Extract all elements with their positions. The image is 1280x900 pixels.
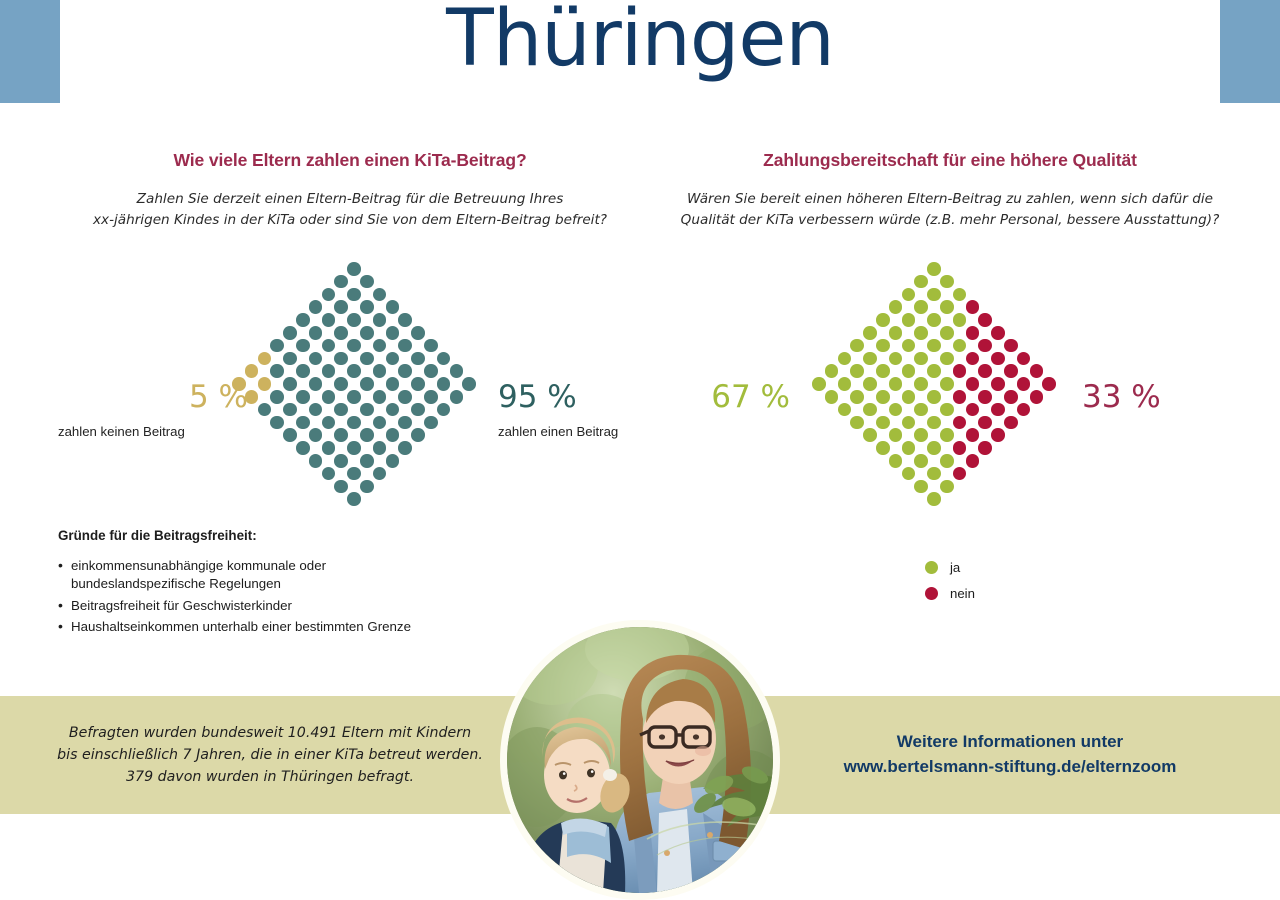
- waffle-dot: [334, 403, 348, 417]
- panel-right-subtitle-line2: Qualität der KiTa verbessern würde (z.B.…: [650, 210, 1250, 231]
- photo-illustration: [507, 627, 773, 893]
- stat-nein: 33 %: [1082, 382, 1222, 413]
- waffle-dot: [953, 390, 967, 404]
- waffle-dot: [398, 390, 412, 404]
- waffle-dot: [889, 403, 903, 417]
- waffle-dot: [966, 377, 980, 391]
- waffle-dot: [437, 352, 451, 366]
- waffle-dot: [1017, 403, 1031, 417]
- waffle-dot: [334, 454, 348, 468]
- waffle-dot: [437, 403, 451, 417]
- waffle-dot: [360, 428, 374, 442]
- waffle-dot: [966, 428, 980, 442]
- page-header: Thüringen: [0, 0, 1280, 104]
- waffle-dot: [902, 364, 916, 378]
- waffle-dot: [1017, 352, 1031, 366]
- waffle-dot: [411, 377, 425, 391]
- waffle-dot: [863, 428, 877, 442]
- waffle-dot: [850, 364, 864, 378]
- waffle-dot: [953, 339, 967, 353]
- panel-left-subtitle-line2: xx-jährigen Kindes in der KiTa oder sind…: [40, 210, 660, 231]
- waffle-dot: [334, 480, 348, 494]
- waffle-dot: [373, 416, 387, 430]
- waffle-dot: [876, 313, 890, 327]
- stat-zahlen-keinen-beitrag: 5 % zahlen keinen Beitrag: [58, 382, 248, 439]
- waffle-dot: [850, 339, 864, 353]
- waffle-dot: [309, 403, 323, 417]
- waffle-dot: [914, 454, 928, 468]
- waffle-dot: [283, 326, 297, 340]
- waffle-dot: [953, 416, 967, 430]
- stat-left-yes-caption: zahlen einen Beitrag: [498, 424, 698, 439]
- reason-item: Haushaltseinkommen unterhalb einer besti…: [58, 618, 418, 636]
- waffle-dot: [966, 326, 980, 340]
- waffle-dot: [1030, 364, 1044, 378]
- footer-note-line1: Befragten wurden bundesweit 10.491 Elter…: [40, 722, 500, 744]
- waffle-dot: [398, 416, 412, 430]
- waffle-dot: [991, 428, 1005, 442]
- waffle-dot: [309, 428, 323, 442]
- waffle-dot: [812, 377, 826, 391]
- waffle-dot: [953, 313, 967, 327]
- waffle-dot: [373, 339, 387, 353]
- waffle-chart-kita-beitrag: [232, 262, 472, 532]
- waffle-dot: [322, 339, 336, 353]
- waffle-dot: [978, 339, 992, 353]
- legend-swatch-ja: [925, 561, 938, 574]
- waffle-dot: [360, 454, 374, 468]
- waffle-dot: [398, 339, 412, 353]
- waffle-dot: [1017, 377, 1031, 391]
- waffle-dot: [322, 364, 336, 378]
- waffle-dot: [360, 275, 374, 289]
- waffle-dot: [914, 377, 928, 391]
- waffle-dot: [863, 403, 877, 417]
- waffle-dot: [322, 288, 336, 302]
- footer-more-info: Weitere Informationen unter www.bertelsm…: [790, 730, 1230, 779]
- panel-right-title: Zahlungsbereitschaft für eine höhere Qua…: [650, 150, 1250, 171]
- waffle-dot: [386, 326, 400, 340]
- waffle-dot: [889, 300, 903, 314]
- footer-cta-url[interactable]: www.bertelsmann-stiftung.de/elternzoom: [790, 755, 1230, 780]
- waffle-dot: [296, 313, 310, 327]
- waffle-dot: [373, 313, 387, 327]
- waffle-dot: [309, 377, 323, 391]
- waffle-chart-zahlungsbereitschaft: [812, 262, 1062, 532]
- footer-note-line2: bis einschließlich 7 Jahren, die in eine…: [40, 744, 500, 766]
- waffle-dot: [360, 480, 374, 494]
- waffle-dot: [1004, 339, 1018, 353]
- waffle-dot: [991, 326, 1005, 340]
- waffle-dot: [450, 364, 464, 378]
- waffle-dot: [953, 288, 967, 302]
- waffle-dot: [347, 364, 361, 378]
- panel-right-subtitle: Wären Sie bereit einen höheren Eltern-Be…: [650, 189, 1250, 230]
- waffle-dot: [411, 428, 425, 442]
- waffle-dot: [283, 428, 297, 442]
- stat-ja: 67 %: [660, 382, 790, 413]
- waffle-dot: [322, 416, 336, 430]
- waffle-dot: [902, 339, 916, 353]
- waffle-dot: [838, 352, 852, 366]
- waffle-dot: [296, 339, 310, 353]
- waffle-dot: [334, 352, 348, 366]
- waffle-dot: [1004, 416, 1018, 430]
- waffle-dot: [411, 326, 425, 340]
- waffle-dot: [283, 403, 297, 417]
- waffle-dot: [360, 377, 374, 391]
- waffle-dot: [270, 390, 284, 404]
- waffle-dot: [940, 454, 954, 468]
- waffle-dot: [258, 377, 272, 391]
- waffle-dot: [927, 262, 941, 276]
- waffle-dot: [927, 390, 941, 404]
- waffle-dot: [386, 352, 400, 366]
- photo-inner: [507, 627, 773, 893]
- waffle-dot: [914, 275, 928, 289]
- reasons-heading: Gründe für die Beitragsfreiheit:: [58, 528, 418, 543]
- waffle-dot: [978, 390, 992, 404]
- waffle-dot: [927, 288, 941, 302]
- waffle-dot: [373, 364, 387, 378]
- legend-swatch-nein: [925, 587, 938, 600]
- waffle-dot: [1004, 390, 1018, 404]
- waffle-dot: [876, 390, 890, 404]
- waffle-dot: [940, 300, 954, 314]
- waffle-dot: [902, 416, 916, 430]
- waffle-dot: [347, 467, 361, 481]
- waffle-dot: [914, 300, 928, 314]
- waffle-dot: [283, 352, 297, 366]
- waffle-dot: [927, 467, 941, 481]
- reason-item: einkommensunabhängige kommunale oder bun…: [58, 557, 418, 594]
- waffle-dot: [953, 364, 967, 378]
- waffle-dot: [940, 428, 954, 442]
- waffle-dot: [825, 364, 839, 378]
- waffle-dot: [914, 428, 928, 442]
- waffle-dot: [1030, 390, 1044, 404]
- waffle-dot: [902, 467, 916, 481]
- waffle-dot: [850, 390, 864, 404]
- waffle-dot: [398, 441, 412, 455]
- waffle-dot: [258, 352, 272, 366]
- waffle-dot: [889, 377, 903, 391]
- waffle-dot: [334, 377, 348, 391]
- waffle-dot: [991, 352, 1005, 366]
- waffle-dot: [386, 403, 400, 417]
- waffle-dot: [876, 339, 890, 353]
- panel-right-subtitle-line1: Wären Sie bereit einen höheren Eltern-Be…: [650, 189, 1250, 210]
- waffle-dot: [927, 313, 941, 327]
- waffle-dot: [360, 300, 374, 314]
- waffle-dot: [927, 492, 941, 506]
- waffle-dot: [966, 454, 980, 468]
- waffle-dot: [940, 377, 954, 391]
- waffle-dot: [309, 454, 323, 468]
- waffle-dot: [360, 403, 374, 417]
- waffle-dot: [373, 441, 387, 455]
- waffle-dot: [850, 416, 864, 430]
- panel-left-subtitle-line1: Zahlen Sie derzeit einen Eltern-Beitrag …: [40, 189, 660, 210]
- waffle-dot: [863, 326, 877, 340]
- waffle-dot: [1004, 364, 1018, 378]
- waffle-dot: [309, 326, 323, 340]
- waffle-dot: [902, 288, 916, 302]
- waffle-dot: [966, 300, 980, 314]
- waffle-dot: [386, 300, 400, 314]
- waffle-dot: [411, 352, 425, 366]
- waffle-dot: [838, 377, 852, 391]
- waffle-dot: [296, 441, 310, 455]
- waffle-dot: [889, 428, 903, 442]
- waffle-dot: [876, 364, 890, 378]
- waffle-dot: [322, 467, 336, 481]
- waffle-dot: [424, 416, 438, 430]
- waffle-dot: [245, 364, 259, 378]
- waffle-dot: [398, 313, 412, 327]
- stat-left-no-value: 5 %: [58, 382, 248, 413]
- waffle-dot: [966, 403, 980, 417]
- waffle-dot: [373, 467, 387, 481]
- waffle-dot: [966, 352, 980, 366]
- waffle-dot: [386, 454, 400, 468]
- waffle-dot: [902, 441, 916, 455]
- waffle-dot: [863, 377, 877, 391]
- waffle-dot: [462, 377, 476, 391]
- panel-kita-beitrag: Wie viele Eltern zahlen einen KiTa-Beitr…: [40, 150, 660, 230]
- panel-left-subtitle: Zahlen Sie derzeit einen Eltern-Beitrag …: [40, 189, 660, 230]
- legend-item: nein: [925, 586, 975, 601]
- waffle-dot: [889, 352, 903, 366]
- legend-item: ja: [925, 560, 975, 575]
- waffle-dot: [347, 441, 361, 455]
- footer-cta-line1: Weitere Informationen unter: [790, 730, 1230, 755]
- waffle-dot: [322, 390, 336, 404]
- waffle-dot: [927, 364, 941, 378]
- waffle-dot: [270, 416, 284, 430]
- waffle-dot: [953, 467, 967, 481]
- waffle-dot: [334, 300, 348, 314]
- waffle-dot: [296, 364, 310, 378]
- waffle-dot: [978, 416, 992, 430]
- waffle-dot: [902, 390, 916, 404]
- waffle-dot: [927, 339, 941, 353]
- waffle-dot: [386, 428, 400, 442]
- reasons-list: einkommensunabhängige kommunale oder bun…: [58, 557, 418, 636]
- waffle-dot: [347, 416, 361, 430]
- waffle-dot: [334, 275, 348, 289]
- waffle-dot: [940, 480, 954, 494]
- waffle-dot: [360, 352, 374, 366]
- waffle-dot: [437, 377, 451, 391]
- waffle-dot: [978, 441, 992, 455]
- waffle-dot-grid-left: [232, 262, 472, 532]
- waffle-dot: [927, 441, 941, 455]
- waffle-dot: [863, 352, 877, 366]
- waffle-dot: [450, 390, 464, 404]
- waffle-dot: [889, 454, 903, 468]
- waffle-dot: [270, 364, 284, 378]
- waffle-dot: [386, 377, 400, 391]
- waffle-dot: [424, 364, 438, 378]
- waffle-dot: [270, 339, 284, 353]
- legend-label: nein: [950, 586, 975, 601]
- stat-right-no-value: 33 %: [1082, 382, 1222, 413]
- waffle-dot: [411, 403, 425, 417]
- reasons-block: Gründe für die Beitragsfreiheit: einkomm…: [58, 528, 418, 639]
- waffle-dot: [258, 403, 272, 417]
- waffle-dot: [309, 300, 323, 314]
- waffle-dot: [940, 403, 954, 417]
- waffle-dot: [347, 390, 361, 404]
- waffle-dot: [347, 288, 361, 302]
- waffle-dot: [914, 326, 928, 340]
- waffle-dot: [889, 326, 903, 340]
- waffle-dot: [360, 326, 374, 340]
- waffle-dot: [991, 377, 1005, 391]
- waffle-dot: [876, 416, 890, 430]
- waffle-dot: [914, 403, 928, 417]
- waffle-dot: [347, 313, 361, 327]
- waffle-dot: [953, 441, 967, 455]
- waffle-dot: [424, 339, 438, 353]
- waffle-dot: [322, 313, 336, 327]
- legend-label: ja: [950, 560, 960, 575]
- stat-left-no-caption: zahlen keinen Beitrag: [58, 424, 248, 439]
- waffle-dot: [424, 390, 438, 404]
- waffle-dot: [902, 313, 916, 327]
- waffle-dot: [838, 403, 852, 417]
- waffle-dot: [347, 262, 361, 276]
- panel-zahlungsbereitschaft: Zahlungsbereitschaft für eine höhere Qua…: [650, 150, 1250, 230]
- waffle-dot-grid-right: [812, 262, 1062, 532]
- waffle-dot: [825, 390, 839, 404]
- waffle-dot: [334, 326, 348, 340]
- waffle-dot: [978, 364, 992, 378]
- waffle-dot: [296, 390, 310, 404]
- waffle-dot: [927, 416, 941, 430]
- waffle-dot: [398, 364, 412, 378]
- waffle-dot: [940, 275, 954, 289]
- waffle-dot: [978, 313, 992, 327]
- waffle-dot: [347, 492, 361, 506]
- footer-note-line3: 379 davon wurden in Thüringen befragt.: [40, 766, 500, 788]
- panel-left-title: Wie viele Eltern zahlen einen KiTa-Beitr…: [40, 150, 660, 171]
- waffle-dot: [373, 288, 387, 302]
- waffle-dot: [914, 480, 928, 494]
- reason-item: Beitragsfreiheit für Geschwisterkinder: [58, 597, 418, 615]
- waffle-dot: [940, 352, 954, 366]
- waffle-dot: [322, 441, 336, 455]
- waffle-dot: [309, 352, 323, 366]
- footer-survey-note: Befragten wurden bundesweit 10.491 Elter…: [40, 722, 500, 788]
- waffle-dot: [283, 377, 297, 391]
- waffle-dot: [991, 403, 1005, 417]
- waffle-dot: [914, 352, 928, 366]
- stat-right-yes-value: 67 %: [660, 382, 790, 413]
- waffle-dot: [347, 339, 361, 353]
- mother-and-child-photo: [500, 620, 780, 900]
- waffle-dot: [296, 416, 310, 430]
- waffle-dot: [940, 326, 954, 340]
- waffle-dot: [876, 441, 890, 455]
- waffle-dot: [373, 390, 387, 404]
- waffle-legend: janein: [925, 560, 975, 612]
- page-title: Thüringen: [0, 0, 1280, 83]
- waffle-dot: [1042, 377, 1056, 391]
- waffle-dot: [334, 428, 348, 442]
